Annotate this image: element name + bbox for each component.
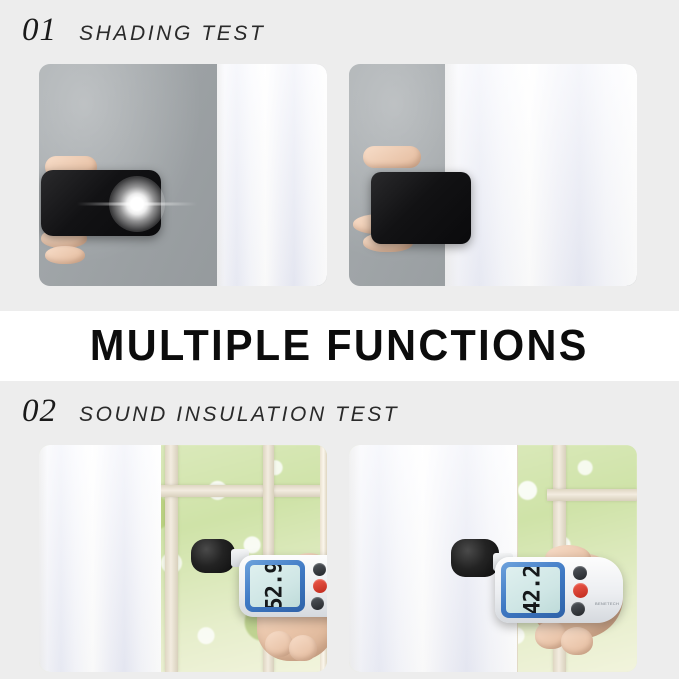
photo-sound-closed-curtain: 42.2 dB BENETECH bbox=[349, 445, 637, 672]
meter-unit: dB bbox=[250, 597, 252, 604]
photo-sound-open-window: 52.9 dB BENETECH bbox=[39, 445, 327, 672]
microphone-windscreen bbox=[191, 539, 235, 573]
meter-lcd: 52.9 dB bbox=[250, 565, 300, 607]
meter-lcd: 42.2 dB bbox=[506, 567, 560, 613]
window-mullion-vertical bbox=[165, 445, 178, 672]
meter-button-mode[interactable] bbox=[571, 602, 585, 616]
meter-button-power[interactable] bbox=[573, 566, 587, 580]
meter-button-record[interactable] bbox=[573, 583, 588, 598]
meter-reading: 52.9 bbox=[263, 565, 288, 607]
meter-display-bezel: 42.2 dB bbox=[501, 562, 565, 618]
meter-reading: 42.2 bbox=[521, 567, 546, 613]
window-mullion-horizontal bbox=[547, 489, 637, 501]
meter-unit: dB bbox=[506, 603, 508, 610]
finger-lower-2 bbox=[45, 246, 85, 264]
curtain-panel bbox=[39, 445, 161, 672]
section-02-title: SOUND INSULATION TEST bbox=[79, 404, 399, 425]
banner-multiple-functions: MULTIPLE FUNCTIONS bbox=[0, 311, 679, 381]
finger-2 bbox=[289, 635, 317, 661]
flashlight-glow bbox=[109, 176, 165, 232]
meter-button-record[interactable] bbox=[313, 579, 327, 593]
section-01-photo-row bbox=[0, 64, 679, 286]
meter-brand-label: BENETECH bbox=[595, 601, 619, 606]
section-01-title: SHADING TEST bbox=[79, 23, 265, 44]
section-02-photo-row: 52.9 dB BENETECH bbox=[0, 445, 679, 672]
banner-title: MULTIPLE FUNCTIONS bbox=[90, 321, 589, 371]
section-02-number: 02 bbox=[22, 395, 57, 428]
finger-2 bbox=[561, 627, 593, 655]
infographic-page: 01 SHADING TEST bbox=[0, 0, 679, 679]
photo-shading-blocked bbox=[349, 64, 637, 286]
meter-button-mode[interactable] bbox=[311, 597, 324, 610]
curtain-panel bbox=[445, 64, 637, 286]
smartphone bbox=[371, 172, 471, 244]
section-01-number: 01 bbox=[22, 14, 57, 47]
meter-button-power[interactable] bbox=[313, 563, 326, 576]
photo-shading-uncovered bbox=[39, 64, 327, 286]
section-01-heading: 01 SHADING TEST bbox=[0, 14, 679, 47]
meter-display-bezel: 52.9 dB bbox=[245, 560, 305, 612]
microphone-windscreen bbox=[451, 539, 499, 577]
finger-index bbox=[363, 146, 421, 168]
window-mullion-horizontal bbox=[159, 485, 327, 497]
curtain-panel bbox=[217, 64, 327, 286]
section-02-heading: 02 SOUND INSULATION TEST bbox=[0, 395, 679, 428]
